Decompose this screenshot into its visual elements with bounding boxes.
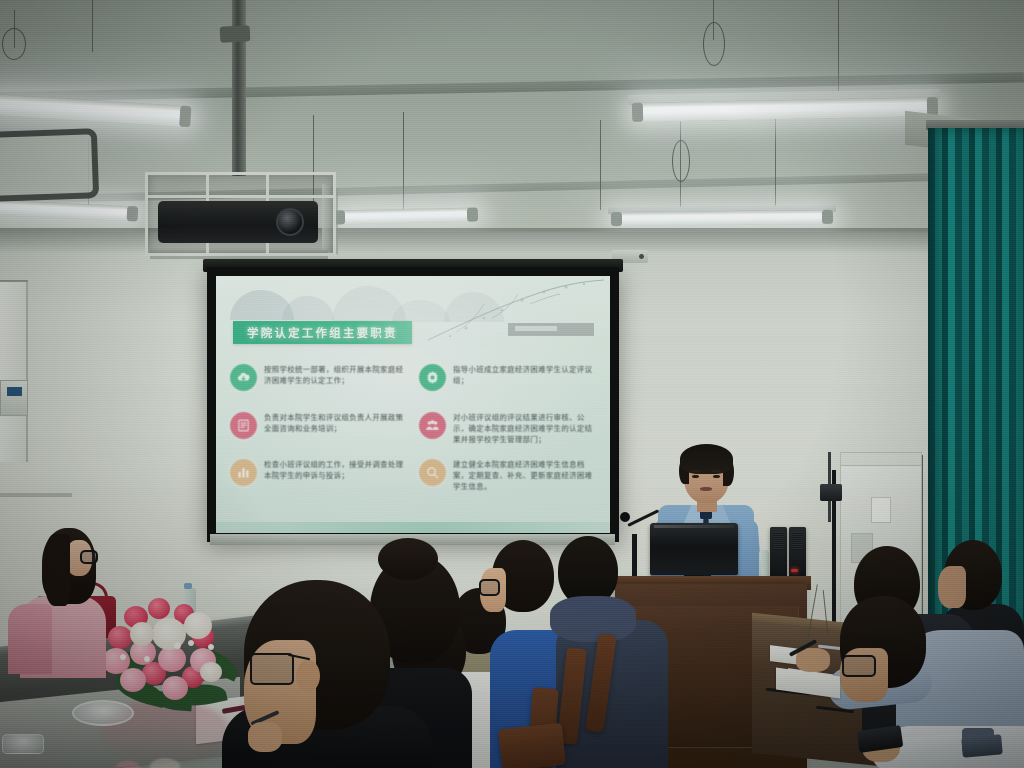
rose-petal <box>108 626 132 649</box>
baby-breath <box>174 642 181 649</box>
bar-chart-icon <box>230 459 257 486</box>
glass-ashtray <box>72 700 134 726</box>
wall-air-conditioner <box>0 128 99 202</box>
slide-bullet-item: 负责对本院学生和评议组负责人开展政策全面咨询和业务培训； <box>230 408 411 452</box>
lily-flower <box>184 612 212 639</box>
hanging-wire-loop <box>2 28 26 60</box>
power-led-indicator <box>791 569 798 572</box>
rose-petal <box>148 598 170 619</box>
hanging-wire <box>92 0 93 52</box>
slide-watermark <box>508 323 594 336</box>
dark-jacket-hood <box>550 596 636 642</box>
flower-bouquet <box>96 596 236 716</box>
hanging-wire-loop <box>703 22 725 66</box>
projector-lens-icon <box>276 208 304 236</box>
front-man-hand <box>248 722 282 752</box>
woman-glasses[interactable] <box>80 550 98 564</box>
cabinet-label <box>871 497 891 523</box>
front-man-glasses[interactable] <box>250 653 294 685</box>
woman-shoulder-scarf <box>8 604 52 674</box>
baby-breath <box>208 644 214 650</box>
slide-bullet-text: 检查小班评议组的工作，接受并调查处理本院学生的申诉与投诉； <box>264 459 411 482</box>
wall-rail <box>0 493 72 497</box>
slide-bullet-item: 检查小班评议组的工作，接受并调查处理本院学生的申诉与投诉； <box>230 455 411 499</box>
baby-breath <box>188 640 194 646</box>
rose-petal <box>158 646 186 672</box>
ceiling-conduit-elbow <box>220 25 251 43</box>
slide-bullet-text: 指导小班成立家庭经济困难学生认定评议组； <box>453 364 600 387</box>
camcorder <box>820 484 842 501</box>
front-man-ear <box>296 660 320 692</box>
slide-bullet-text: 对小班评议组的评议结果进行审核、公示，确定本院家庭经济困难学生的认定结果并报学校… <box>453 412 600 446</box>
blue-shirt-glasses[interactable] <box>479 579 500 596</box>
lily-flower <box>130 622 154 646</box>
slide-bullet-item: 按照学校统一部署，组织开展本院家庭经济困难学生的认定工作； <box>230 360 411 404</box>
hanging-wire-loop <box>672 140 690 182</box>
rose-petal <box>162 676 188 700</box>
baby-breath <box>144 656 150 662</box>
microphone-head <box>620 512 630 522</box>
slide-footer-bar <box>216 522 610 533</box>
people-group-icon <box>419 412 446 439</box>
lily-flower <box>200 662 222 682</box>
slide-bullet-text: 按照学校统一部署，组织开展本院家庭经济困难学生的认定工作； <box>264 364 411 387</box>
slide-title-text: 学院认定工作组主要职责 <box>247 325 398 341</box>
podium-monitor[interactable] <box>650 523 738 575</box>
wall-control-panel[interactable] <box>0 380 28 416</box>
cloud-download-icon <box>230 364 257 391</box>
slide-title-banner: 学院认定工作组主要职责 <box>233 321 412 344</box>
slide-bullet-grid: 按照学校统一部署，组织开展本院家庭经济困难学生的认定工作； 指导小班成立家庭经济… <box>230 360 600 499</box>
rose-petal <box>120 668 146 692</box>
presenter-mouth <box>700 487 712 491</box>
hair-bun <box>378 538 438 580</box>
ceiling-projector-cage <box>145 172 336 256</box>
projection-screen: 学院认定工作组主要职责 按照学校统一部署，组织开展本院家庭经济困难学生的认定工作… <box>207 267 619 542</box>
slide-bullet-text: 建立健全本院家庭经济困难学生信息档案，定期复查、补充、更新家庭经济困难学生信息。 <box>453 459 600 493</box>
slide-bullet-item: 对小班评议组的评议结果进行审核、公示，确定本院家庭经济困难学生的认定结果并报学校… <box>419 408 600 452</box>
ceiling-light-tube <box>611 210 833 226</box>
lecture-hall-photo: 学院认定工作组主要职责 按照学校统一部署，组织开展本院家庭经济困难学生的认定工作… <box>0 0 1024 768</box>
slide-bullet-text: 负责对本院学生和评议组负责人开展政策全面咨询和业务培训； <box>264 412 411 435</box>
smartphone[interactable] <box>961 734 1003 757</box>
glass-ashtray <box>2 734 44 754</box>
presenter-brow <box>711 470 721 472</box>
ink-branch-decor <box>426 278 606 348</box>
whiteboard-edge <box>0 282 28 462</box>
notetaker-hand-writing <box>796 648 830 672</box>
presenter-hair <box>680 444 733 474</box>
hanging-wire <box>838 0 839 98</box>
baby-breath <box>120 654 126 660</box>
woman-hair-front <box>44 534 70 606</box>
mountain-decor <box>282 296 334 320</box>
slide-bullet-item: 建立健全本院家庭经济困难学生信息档案，定期复查、补充、更新家庭经济困难学生信息。 <box>419 455 600 499</box>
gear-flower-icon <box>419 364 446 391</box>
slide-bullet-item: 指导小班成立家庭经济困难学生认定评议组； <box>419 360 600 404</box>
pc-tower <box>770 527 787 579</box>
presenter-eye <box>713 475 720 478</box>
presenter-brow <box>691 470 701 472</box>
chair-back <box>498 723 566 768</box>
presenter-eye <box>692 475 699 478</box>
hanging-wire <box>403 112 404 212</box>
document-icon <box>230 412 257 439</box>
notetaker-glasses[interactable] <box>842 655 876 677</box>
slide-content: 学院认定工作组主要职责 按照学校统一部署，组织开展本院家庭经济困难学生的认定工作… <box>216 276 610 533</box>
hanging-wire <box>600 120 601 210</box>
magnifier-icon <box>419 459 446 486</box>
right-back-face <box>938 566 966 608</box>
